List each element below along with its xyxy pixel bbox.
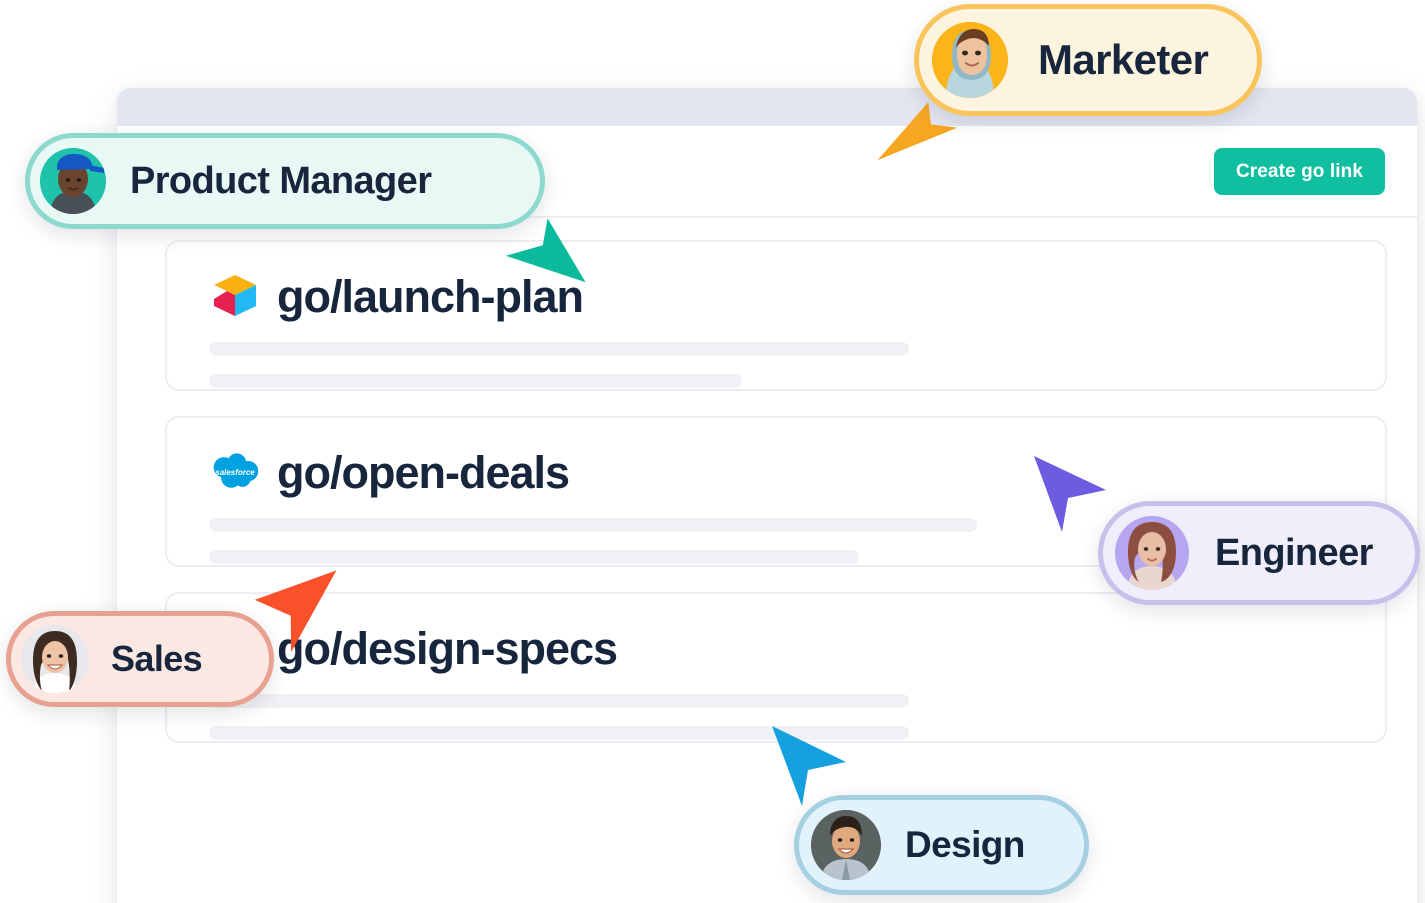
role-pill-label: Design xyxy=(905,824,1025,866)
role-pill-sales[interactable]: Sales xyxy=(6,611,274,707)
content-placeholder-bar xyxy=(209,342,909,356)
go-link-card[interactable]: go/design-specs xyxy=(165,592,1387,743)
create-go-link-button[interactable]: Create go link xyxy=(1214,148,1385,195)
role-pill-engineer[interactable]: Engineer xyxy=(1098,501,1420,605)
card-header: go/design-specs xyxy=(209,620,1385,676)
go-link-list: go/launch-plan xyxy=(117,218,1417,743)
role-pill-marketer[interactable]: Marketer xyxy=(914,4,1262,116)
marketer-avatar xyxy=(932,22,1008,98)
card-header: go/launch-plan xyxy=(209,268,1385,324)
salesforce-icon: salesforce xyxy=(209,446,261,498)
product-manager-cursor-icon xyxy=(500,215,590,295)
content-placeholder-bar xyxy=(209,694,909,708)
engineer-cursor-icon xyxy=(1028,452,1112,538)
go-link-title: go/open-deals xyxy=(277,450,569,495)
role-pill-label: Engineer xyxy=(1215,532,1373,575)
card-header: salesforce go/open-deals xyxy=(209,444,1385,500)
role-pill-design[interactable]: Design xyxy=(794,795,1089,895)
product-manager-avatar xyxy=(40,148,106,214)
design-avatar xyxy=(811,810,881,880)
role-pill-product-manager[interactable]: Product Manager xyxy=(25,133,545,229)
coda-icon xyxy=(209,270,261,322)
sales-avatar xyxy=(21,625,89,693)
role-pill-label: Sales xyxy=(111,638,202,680)
role-pill-label: Product Manager xyxy=(130,160,431,203)
engineer-avatar xyxy=(1115,516,1189,590)
screenshot-stage: Create go link go/l xyxy=(0,0,1425,903)
content-placeholder-bar xyxy=(209,518,977,532)
role-pill-label: Marketer xyxy=(1038,36,1208,84)
content-placeholder-bar xyxy=(209,374,742,388)
salesforce-wordmark: salesforce xyxy=(215,468,255,477)
go-link-card[interactable]: go/launch-plan xyxy=(165,240,1387,391)
